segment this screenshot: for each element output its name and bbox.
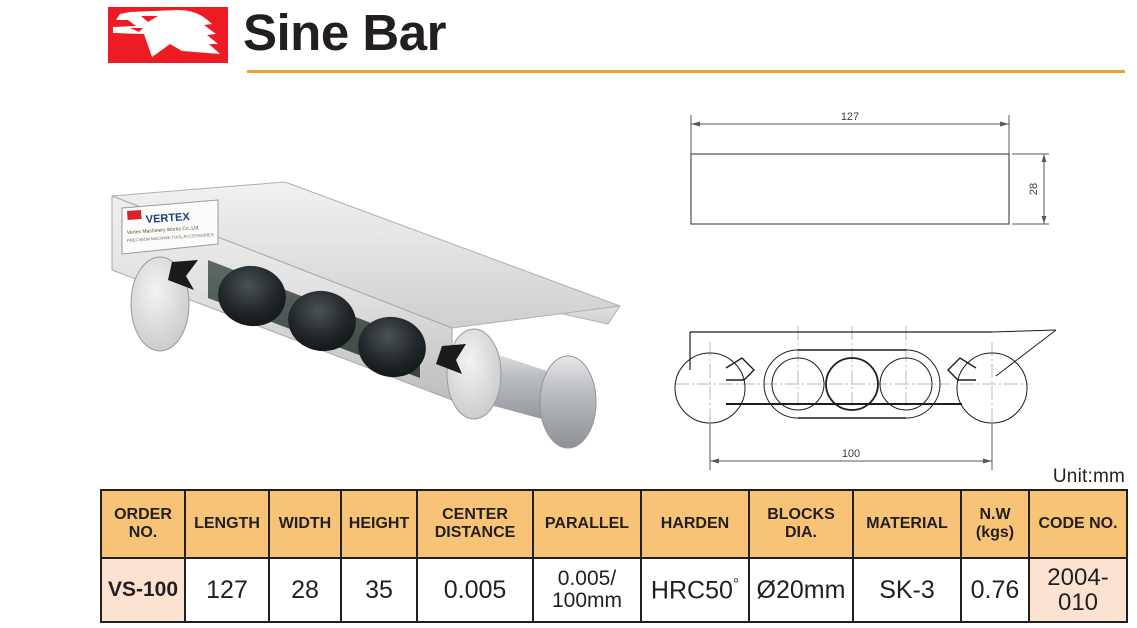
parallel-line-1: 0.005/	[558, 567, 616, 590]
cell-height: 35	[341, 558, 417, 622]
column-header-height: HEIGHT	[341, 490, 417, 558]
cell-length: 127	[185, 558, 269, 622]
parallel-line-2: 100mm	[552, 589, 622, 612]
header-line-1: ORDER	[114, 506, 172, 523]
column-header-width: WIDTH	[269, 490, 341, 558]
vertex-eagle-logo-icon	[108, 7, 228, 63]
column-header-length: LENGTH	[185, 490, 269, 558]
cell-nw: 0.76	[961, 558, 1029, 622]
column-header-parallel: PARALLEL	[533, 490, 641, 558]
table-row: VS-100 127 28 35 0.005 0.005/ 100mm HRC5…	[101, 558, 1127, 622]
column-header-code-no: CODE NO.	[1029, 490, 1127, 558]
column-header-nw: N.W (kgs)	[961, 490, 1029, 558]
dimension-height-28: 28	[1028, 183, 1040, 195]
sine-bar-product-photo: VERTEX Vertex Machinery Works Co.,Ltd PR…	[100, 178, 662, 462]
side-elevation-drawing: 100	[660, 318, 1060, 478]
unit-label: Unit:mm	[1053, 466, 1125, 488]
page-header: Sine Bar	[0, 0, 1137, 86]
header-line-2: DIA.	[785, 524, 817, 541]
cell-width: 28	[269, 558, 341, 622]
header-line-1: BLOCKS	[767, 506, 835, 523]
cell-parallel: 0.005/ 100mm	[533, 558, 641, 622]
degree-symbol: °	[733, 576, 739, 593]
column-header-center-distance: CENTER DISTANCE	[417, 490, 533, 558]
table-header-row: ORDER NO. LENGTH WIDTH HEIGHT CENTER DIS…	[101, 490, 1127, 558]
dimension-center-distance-100: 100	[842, 448, 860, 460]
front-elevation-drawing: 127 28	[660, 95, 1060, 235]
column-header-harden: HARDEN	[641, 490, 749, 558]
header-line-1: CENTER	[442, 506, 508, 523]
dimension-length-127: 127	[841, 111, 859, 123]
cell-order-no: VS-100	[101, 558, 185, 622]
cell-center-distance: 0.005	[417, 558, 533, 622]
header-line-2: (kgs)	[976, 524, 1014, 541]
cell-code-no: 2004-010	[1029, 558, 1127, 622]
header-line-2: DISTANCE	[435, 524, 516, 541]
column-header-order-no: ORDER NO.	[101, 490, 185, 558]
cell-harden: HRC50°	[641, 558, 749, 622]
column-header-blocks-dia: BLOCKS DIA.	[749, 490, 853, 558]
cell-blocks-dia: Ø20mm	[749, 558, 853, 622]
title-underline-rule	[247, 70, 1125, 73]
cell-material: SK-3	[853, 558, 961, 622]
page-title: Sine Bar	[243, 2, 446, 64]
column-header-material: MATERIAL	[853, 490, 961, 558]
harden-value: HRC50	[651, 576, 733, 604]
specification-table: ORDER NO. LENGTH WIDTH HEIGHT CENTER DIS…	[100, 489, 1128, 623]
header-line-2: NO.	[129, 524, 157, 541]
header-line-1: N.W	[979, 506, 1010, 523]
